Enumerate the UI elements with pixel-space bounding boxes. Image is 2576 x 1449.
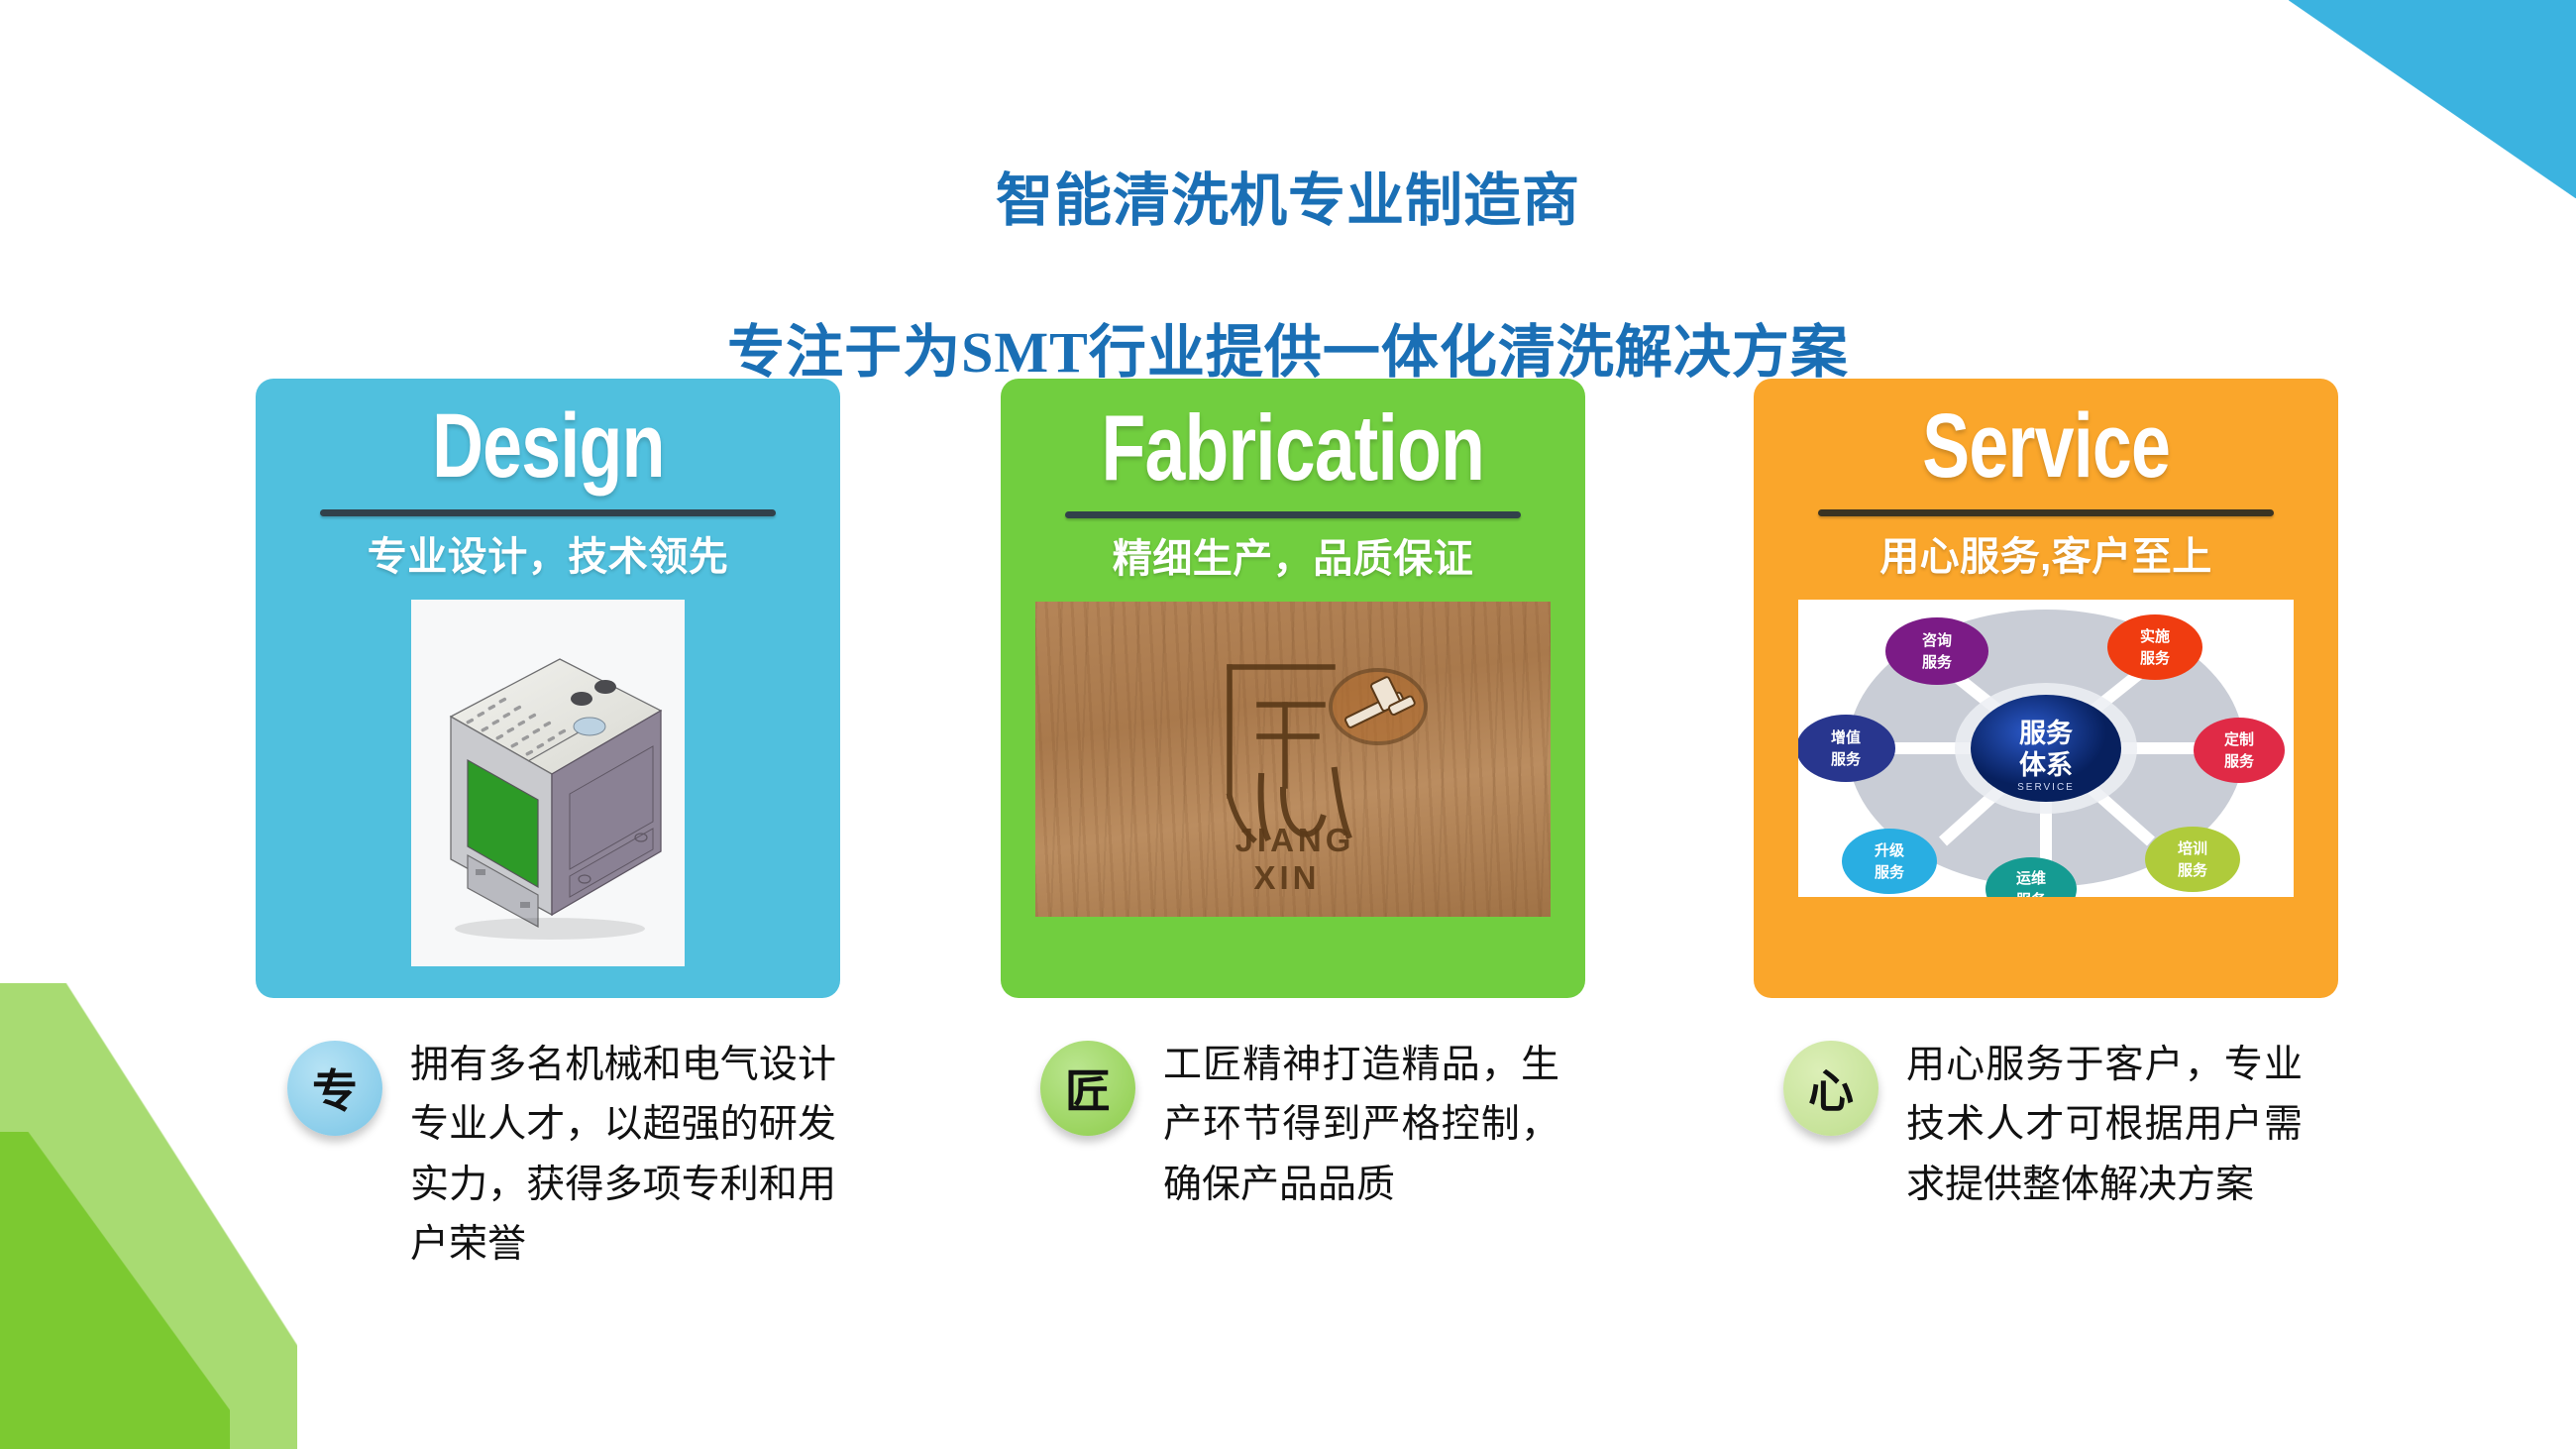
svg-text:服务: 服务 xyxy=(2178,861,2208,879)
service-system-wheel-icon: 服务 体系 SERVICE 咨询 服务 实施 服务 定制 服务 培训 服务 xyxy=(1798,600,2294,897)
svg-text:升级: 升级 xyxy=(1875,841,1905,859)
feature-fabrication-badge: 匠 xyxy=(1040,1041,1135,1136)
card-service-subtitle: 用心服务,客户至上 xyxy=(1879,524,2212,582)
card-design-image xyxy=(411,600,685,966)
card-fabrication-subtitle: 精细生产，品质保证 xyxy=(1113,526,1474,584)
svg-text:培训: 培训 xyxy=(2178,839,2207,857)
card-fabrication-image: JIANG XIN xyxy=(1035,602,1551,917)
svg-text:体系: 体系 xyxy=(2019,750,2073,781)
feature-fabrication-text: 工匠精神打造精品，生产环节得到严格控制，确保产品品质 xyxy=(1163,1036,1559,1215)
card-design[interactable]: Design 专业设计，技术领先 xyxy=(256,379,840,998)
svg-text:服务: 服务 xyxy=(2224,752,2255,770)
card-fabrication-divider xyxy=(1065,511,1521,518)
svg-text:实施: 实施 xyxy=(2140,627,2170,645)
svg-text:服务: 服务 xyxy=(2140,649,2171,667)
svg-text:咨询: 咨询 xyxy=(1922,631,1952,649)
svg-text:服务: 服务 xyxy=(2019,719,2073,749)
card-service[interactable]: Service 用心服务,客户至上 xyxy=(1754,379,2338,998)
feature-service-badge: 心 xyxy=(1783,1041,1878,1136)
feature-fabrication: 匠 工匠精神打造精品，生产环节得到严格控制，确保产品品质 xyxy=(1040,1036,1559,1215)
feature-service: 心 用心服务于客户，专业技术人才可根据用户需求提供整体解决方案 xyxy=(1783,1036,2303,1215)
svg-text:JIANG: JIANG xyxy=(1235,822,1355,858)
svg-text:定制: 定制 xyxy=(2224,730,2254,748)
svg-text:服务: 服务 xyxy=(2016,891,2047,897)
card-service-title: Service xyxy=(1922,400,2170,494)
svg-text:XIN: XIN xyxy=(1253,859,1320,896)
feature-descriptions-row: 专 拥有多名机械和电气设计专业人才，以超强的研发实力，获得多项专利和用户荣誉 匠… xyxy=(0,1036,2576,1363)
feature-design: 专 拥有多名机械和电气设计专业人才，以超强的研发实力，获得多项专利和用户荣誉 xyxy=(287,1036,836,1276)
wood-engraved-logo-icon: JIANG XIN xyxy=(1035,602,1551,917)
svg-text:SERVICE: SERVICE xyxy=(2017,782,2075,793)
card-service-image: 服务 体系 SERVICE 咨询 服务 实施 服务 定制 服务 培训 服务 xyxy=(1798,600,2294,897)
card-design-subtitle: 专业设计，技术领先 xyxy=(368,524,729,582)
card-service-divider xyxy=(1818,509,2274,516)
card-design-divider xyxy=(320,509,776,516)
svg-text:服务: 服务 xyxy=(1875,863,1905,881)
feature-cards-row: Design 专业设计，技术领先 xyxy=(0,379,2576,1013)
card-fabrication[interactable]: Fabrication 精细生产，品质保证 xyxy=(1001,379,1585,998)
cad-machine-icon xyxy=(411,600,685,966)
svg-text:运维: 运维 xyxy=(2016,869,2046,887)
svg-text:服务: 服务 xyxy=(1831,750,1862,768)
svg-text:服务: 服务 xyxy=(1922,653,1953,671)
feature-design-badge: 专 xyxy=(287,1041,382,1136)
card-design-title: Design xyxy=(432,400,665,494)
feature-design-text: 拥有多名机械和电气设计专业人才，以超强的研发实力，获得多项专利和用户荣誉 xyxy=(410,1036,836,1276)
feature-service-text: 用心服务于客户，专业技术人才可根据用户需求提供整体解决方案 xyxy=(1906,1036,2303,1215)
page-title-line-1: 智能清洗机专业制造商 xyxy=(0,164,2576,240)
card-fabrication-title: Fabrication xyxy=(1102,400,1485,496)
svg-text:增值: 增值 xyxy=(1831,728,1861,746)
